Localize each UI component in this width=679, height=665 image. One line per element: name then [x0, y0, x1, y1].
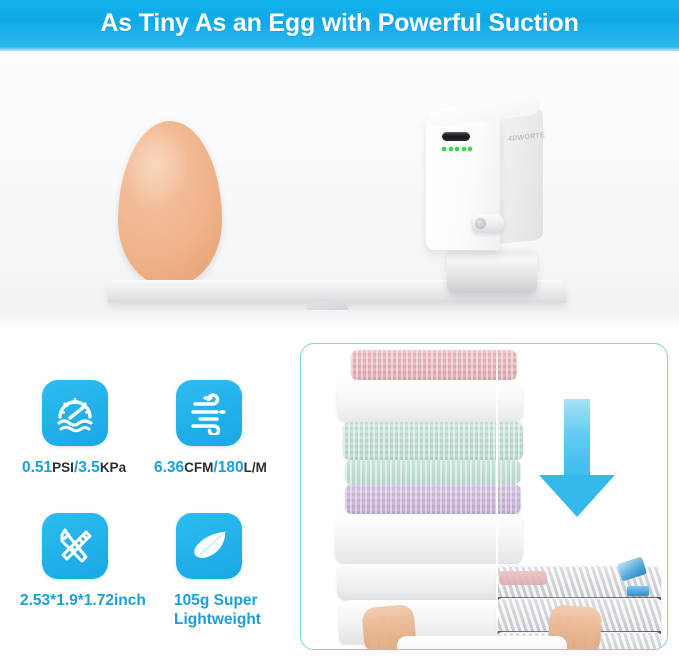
- bag-valve: [627, 586, 649, 596]
- spec-row-1: 0.51PSI/3.5KPa 6.36CFM/180L/M: [18, 380, 286, 477]
- folded-item-white-bedding: [337, 564, 521, 600]
- before-after-comparison-panel: [300, 343, 668, 650]
- spec-label-pressure: 0.51PSI/3.5KPa: [22, 459, 126, 477]
- spec-item-dimensions: 2.53*1.9*1.72inch: [18, 513, 152, 629]
- down-arrow-icon: [539, 399, 615, 517]
- vacuum-pump-device: 4DWORTE: [426, 110, 543, 254]
- feather-tile: [176, 513, 242, 579]
- finger: [574, 616, 585, 649]
- led-indicator: [455, 147, 459, 151]
- before-after-seam: [496, 344, 498, 649]
- device-base-stand: [447, 251, 537, 293]
- arrow-stem: [564, 399, 590, 477]
- folded-item-lavender-towel: [345, 484, 521, 514]
- spec-unit-psi: PSI: [52, 460, 74, 475]
- spec-item-airflow: 6.36CFM/180L/M: [152, 380, 286, 477]
- finger: [585, 617, 596, 649]
- section-divider: [0, 310, 679, 328]
- spec-value-psi: 0.51: [22, 459, 52, 476]
- product-infographic: As Tiny As an Egg with Powerful Suction: [0, 0, 679, 665]
- spec-label-airflow: 6.36CFM/180L/M: [154, 459, 267, 477]
- wind-airflow-tile: [176, 380, 242, 446]
- spec-value-cfm: 6.36: [154, 459, 184, 476]
- spec-value-lm: 180: [218, 459, 244, 476]
- feather-icon: [187, 524, 231, 568]
- spec-grid: 0.51PSI/3.5KPa 6.36CFM/180L/M: [18, 380, 286, 629]
- fulcrum: [307, 301, 349, 310]
- hero-balance-scene: 4DWORTE: [0, 51, 679, 310]
- spec-row-2: 2.53*1.9*1.72inch 105g Super Lightweight: [18, 513, 286, 629]
- spec-unit-kpa: KPa: [100, 460, 126, 475]
- usb-c-port-icon: [442, 132, 470, 141]
- spec-unit-lm: L/M: [244, 460, 267, 475]
- spec-label-dimensions: 2.53*1.9*1.72inch: [20, 592, 146, 610]
- finger: [378, 616, 390, 649]
- folded-item-mint-knit: [345, 460, 521, 484]
- header-banner: As Tiny As an Egg with Powerful Suction: [0, 0, 679, 47]
- pressure-gauge-icon: [53, 391, 97, 435]
- led-indicator: [462, 147, 466, 151]
- folded-item-white-bedding: [335, 514, 523, 564]
- arrow-head: [539, 475, 615, 517]
- page-title: As Tiny As an Egg with Powerful Suction: [100, 11, 578, 36]
- led-indicator: [449, 147, 453, 151]
- egg: [118, 121, 222, 287]
- finger: [367, 617, 379, 649]
- spec-item-weight: 105g Super Lightweight: [152, 513, 286, 629]
- spec-label-weight: 105g Super Lightweight: [174, 592, 294, 629]
- ruler-pencil-icon: [53, 524, 97, 568]
- spec-value-kpa: 3.5: [78, 459, 100, 476]
- led-indicator: [468, 147, 472, 151]
- led-indicator: [442, 147, 446, 151]
- led-indicator-row: [442, 146, 472, 151]
- comparison-inner: [301, 344, 667, 649]
- ruler-pencil-tile: [42, 513, 108, 579]
- spec-unit-cfm: CFM: [184, 460, 213, 475]
- wind-airflow-icon: [187, 391, 231, 435]
- spec-item-pressure: 0.51PSI/3.5KPa: [18, 380, 152, 477]
- person-torso: [397, 636, 567, 649]
- device-side-panel: [499, 107, 543, 244]
- bag-contents-peek: [499, 571, 547, 585]
- nozzle-opening: [475, 218, 486, 229]
- pressure-gauge-tile: [42, 380, 108, 446]
- folded-item-pink-knit: [351, 350, 517, 380]
